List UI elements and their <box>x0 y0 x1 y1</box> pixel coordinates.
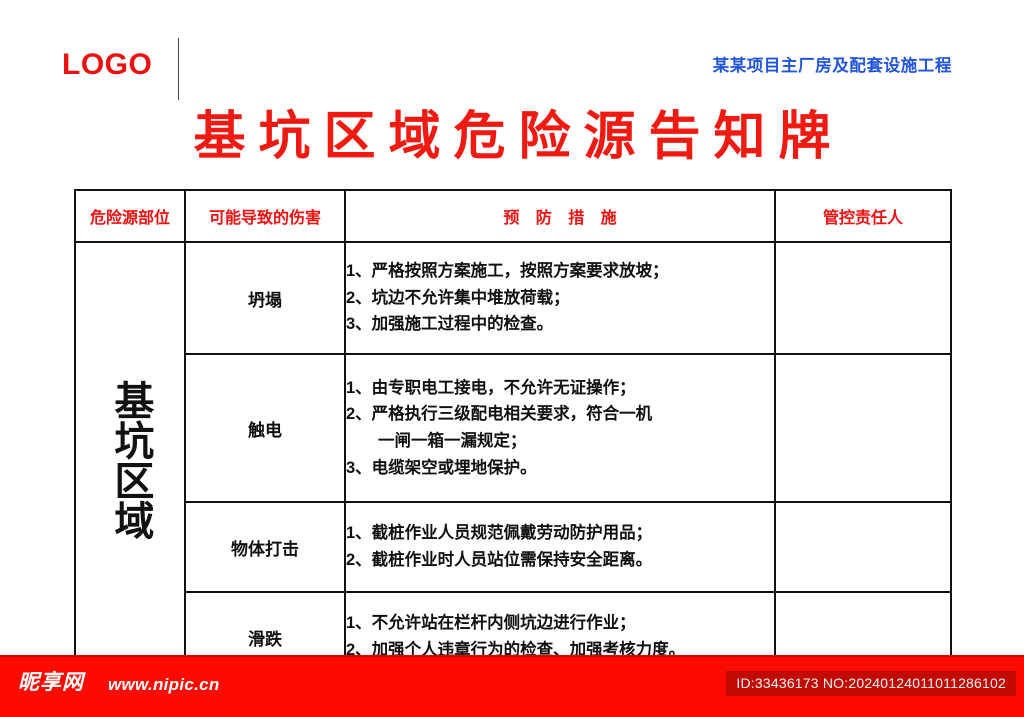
notice-board: LOGO 某某项目主厂房及配套设施工程 基坑区域危险源告知牌 危险源部位 可能导… <box>0 0 1024 717</box>
project-title: 某某项目主厂房及配套设施工程 <box>713 58 952 75</box>
responsible-person-cell[interactable] <box>775 354 951 502</box>
header-cell-responsible-person: 管控责任人 <box>775 190 951 242</box>
logo-divider <box>178 38 179 100</box>
table-row: 触电 1、由专职电工接电，不允许无证操作； 2、严格执行三级配电相关要求，符合一… <box>75 354 951 502</box>
measures-cell: 1、严格按照方案施工，按照方案要求放坡； 2、坑边不允许集中堆放荷载； 3、加强… <box>345 242 775 354</box>
header-cell-possible-harm: 可能导致的伤害 <box>185 190 345 242</box>
measure-line: 2、截桩作业时人员站位需保持安全距离。 <box>346 547 774 574</box>
responsible-person-cell[interactable] <box>775 502 951 592</box>
measure-line: 1、由专职电工接电，不允许无证操作； <box>346 375 774 402</box>
page-title: 基坑区域危险源告知牌 <box>0 110 1024 165</box>
watermark-url[interactable]: www.nipic.cn <box>108 676 220 693</box>
table-header-row: 危险源部位 可能导致的伤害 预 防 措 施 管控责任人 <box>75 190 951 242</box>
area-label-cell: 基坑区域 <box>75 242 185 682</box>
header-cell-hazard-location: 危险源部位 <box>75 190 185 242</box>
measure-line: 1、不允许站在栏杆内侧坑边进行作业； <box>346 610 774 637</box>
table-row: 基坑区域 坍塌 1、严格按照方案施工，按照方案要求放坡； 2、坑边不允许集中堆放… <box>75 242 951 354</box>
measure-line: 1、截桩作业人员规范佩戴劳动防护用品； <box>346 520 774 547</box>
responsible-person-cell[interactable] <box>775 242 951 354</box>
measure-line: 3、电缆架空或埋地保护。 <box>346 455 774 482</box>
table-row: 物体打击 1、截桩作业人员规范佩戴劳动防护用品； 2、截桩作业时人员站位需保持安… <box>75 502 951 592</box>
header-cell-prevention-measures: 预 防 措 施 <box>345 190 775 242</box>
hazard-name: 物体打击 <box>185 502 345 592</box>
area-label-vertical: 基坑区域 <box>106 380 155 540</box>
hazard-table: 危险源部位 可能导致的伤害 预 防 措 施 管控责任人 基坑区域 坍塌 1、严格… <box>74 189 952 683</box>
measure-line: 2、严格执行三级配电相关要求，符合一机 <box>346 401 774 428</box>
watermark-logo: 昵享网 <box>18 672 84 693</box>
measures-cell: 1、由专职电工接电，不允许无证操作； 2、严格执行三级配电相关要求，符合一机 一… <box>345 354 775 502</box>
footer-bar: 昵享网 www.nipic.cn ID:33436173 NO:20240124… <box>0 655 1024 717</box>
hazard-name: 坍塌 <box>185 242 345 354</box>
measure-line-continuation: 一闸一箱一漏规定； <box>346 428 774 455</box>
measure-line: 3、加强施工过程中的检查。 <box>346 311 774 338</box>
board-header: LOGO 某某项目主厂房及配套设施工程 <box>0 0 1024 100</box>
company-logo: LOGO <box>62 50 152 80</box>
footer-top-line <box>0 655 1024 657</box>
hazard-name: 触电 <box>185 354 345 502</box>
hazard-table-container: 危险源部位 可能导致的伤害 预 防 措 施 管控责任人 基坑区域 坍塌 1、严格… <box>74 189 950 633</box>
measures-cell: 1、截桩作业人员规范佩戴劳动防护用品； 2、截桩作业时人员站位需保持安全距离。 <box>345 502 775 592</box>
measure-line: 1、严格按照方案施工，按照方案要求放坡； <box>346 258 774 285</box>
measure-line: 2、坑边不允许集中堆放荷载； <box>346 285 774 312</box>
image-id-badge: ID:33436173 NO:20240124011011286102 <box>726 671 1016 696</box>
